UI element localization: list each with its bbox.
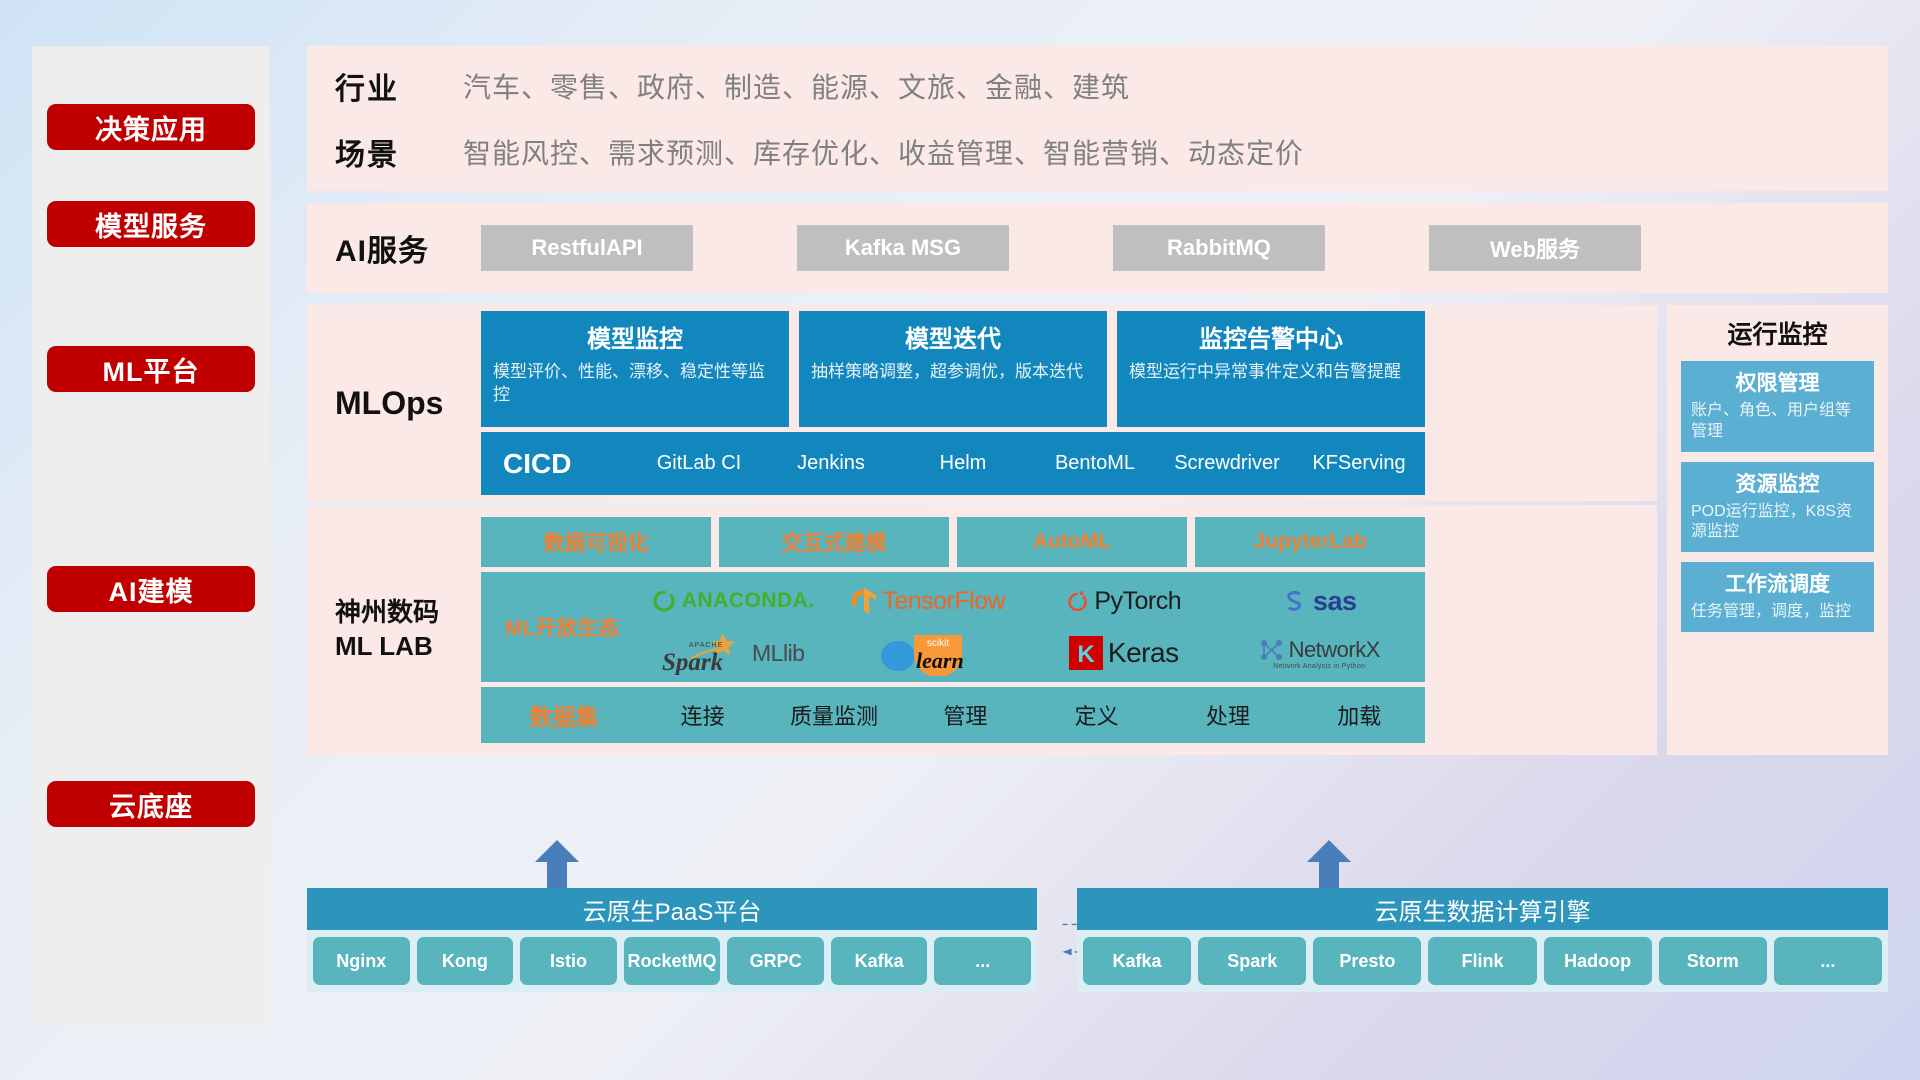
stage-pill-cloud-base[interactable]: 云底座	[47, 781, 255, 827]
mlops-card-title: 监控告警中心	[1129, 319, 1413, 354]
cloud-chip-rocketmq[interactable]: RocketMQ	[624, 937, 721, 985]
pytorch-logo: PyTorch	[1066, 587, 1181, 616]
tensorflow-logo: TensorFlow	[851, 587, 1005, 616]
cicd-item-screwdriver[interactable]: Screwdriver	[1161, 452, 1293, 475]
monitor-card-desc: 账户、角色、用户组等管理	[1691, 401, 1864, 443]
spark-icon: APACHE Spark	[661, 631, 747, 675]
networkx-icon	[1259, 637, 1285, 663]
data-chip-kafka[interactable]: Kafka	[1083, 937, 1191, 985]
mlops-label: MLOps	[335, 385, 463, 422]
up-arrow-icon-data-engine	[1307, 840, 1351, 892]
monitor-card-desc: POD运行监控，K8S资源监控	[1691, 502, 1864, 544]
up-arrow-icon-paas	[535, 840, 579, 892]
scenario-row: 场景 智能风控、需求预测、库存优化、收益管理、智能营销、动态定价	[335, 130, 1304, 174]
data-chip-spark[interactable]: Spark	[1198, 937, 1306, 985]
pytorch-icon	[1066, 588, 1089, 615]
mlops-card-desc: 模型运行中异常事件定义和告警提醒	[1129, 361, 1413, 384]
ai-service-chip-restfulapi[interactable]: RestfulAPI	[481, 225, 693, 271]
monitor-card-desc: 任务管理，调度，监控	[1691, 602, 1864, 623]
ml-lab-label-line2: ML LAB	[335, 630, 463, 664]
scikit-learn-logo: scikit learn	[876, 630, 980, 676]
dataset-bar: 数据集 连接 质量监测 管理 定义 处理 加载	[481, 687, 1425, 743]
sas-icon	[1282, 588, 1308, 614]
cloud-chip-kafka[interactable]: Kafka	[831, 937, 928, 985]
spark-mllib-logo: APACHE Spark MLlib	[661, 631, 804, 675]
scikit-learn-icon: scikit learn	[876, 630, 980, 676]
keras-logo: K Keras	[1069, 636, 1179, 670]
dataset-title: 数据集	[491, 698, 637, 732]
data-chip-flink[interactable]: Flink	[1428, 937, 1536, 985]
tensorflow-logo-text: TensorFlow	[882, 587, 1005, 616]
anaconda-icon	[651, 588, 677, 614]
mlops-card-alert-center[interactable]: 监控告警中心 模型运行中异常事件定义和告警提醒	[1117, 311, 1425, 427]
runtime-monitoring-panel: 运行监控 权限管理 账户、角色、用户组等管理 资源监控 POD运行监控，K8S资…	[1667, 305, 1888, 755]
mlops-card-title: 模型监控	[493, 319, 777, 354]
cicd-item-gitlab-ci[interactable]: GitLab CI	[633, 452, 765, 475]
cloud-native-data-engine-chip-list: Kafka Spark Presto Flink Hadoop Storm ..…	[1077, 930, 1888, 992]
ml-tool-tab-automl[interactable]: AutoML	[957, 517, 1187, 567]
cicd-item-kfserving[interactable]: KFServing	[1293, 452, 1425, 475]
sas-logo: sas	[1282, 586, 1357, 617]
sas-logo-text: sas	[1313, 586, 1357, 617]
ml-open-ecosystem-label: ML开放生态	[489, 612, 635, 642]
ml-lab-label: 神州数码 ML LAB	[335, 596, 463, 664]
cloud-chip-more[interactable]: ...	[934, 937, 1031, 985]
networkx-logo-text: NetworkX	[1289, 637, 1380, 663]
data-chip-storm[interactable]: Storm	[1659, 937, 1767, 985]
keras-logo-text: Keras	[1108, 637, 1179, 669]
cloud-chip-istio[interactable]: Istio	[520, 937, 617, 985]
dataset-item-load[interactable]: 加载	[1294, 699, 1425, 731]
cloud-native-data-engine-header: 云原生数据计算引擎	[1077, 888, 1888, 930]
monitor-card-workflow[interactable]: 工作流调度 任务管理，调度，监控	[1681, 562, 1874, 632]
scenario-label: 场景	[335, 130, 463, 174]
monitor-card-permission[interactable]: 权限管理 账户、角色、用户组等管理	[1681, 361, 1874, 452]
ai-service-label: AI服务	[335, 226, 463, 270]
dataset-item-manage[interactable]: 管理	[900, 699, 1031, 731]
svg-text:learn: learn	[916, 648, 964, 673]
cicd-title: CICD	[503, 448, 633, 480]
mlops-card-model-monitoring[interactable]: 模型监控 模型评价、性能、漂移、稳定性等监控	[481, 311, 789, 427]
cicd-bar: CICD GitLab CI Jenkins Helm BentoML Scre…	[481, 432, 1425, 495]
mlops-card-model-iteration[interactable]: 模型迭代 抽样策略调整，超参调优，版本迭代	[799, 311, 1107, 427]
mllib-logo-text: MLlib	[752, 640, 804, 667]
anaconda-logo: ANACONDA.	[651, 588, 815, 614]
data-chip-hadoop[interactable]: Hadoop	[1544, 937, 1652, 985]
ai-service-band: AI服务 RestfulAPI Kafka MSG RabbitMQ Web服务	[307, 203, 1888, 293]
data-chip-presto[interactable]: Presto	[1313, 937, 1421, 985]
svg-text:Spark: Spark	[662, 649, 724, 675]
monitor-card-title: 资源监控	[1691, 468, 1864, 498]
cloud-native-data-engine-group: 云原生数据计算引擎 Kafka Spark Presto Flink Hadoo…	[1077, 888, 1888, 992]
cloud-native-paas-chip-list: Nginx Kong Istio RocketMQ GRPC Kafka ...	[307, 930, 1037, 992]
ml-open-ecosystem-box: ML开放生态 ANACONDA.	[481, 572, 1425, 682]
industry-value: 汽车、零售、政府、制造、能源、文旅、金融、建筑	[463, 66, 1130, 106]
monitor-card-title: 权限管理	[1691, 367, 1864, 397]
svg-text:APACHE: APACHE	[689, 642, 723, 649]
stage-pill-ai-modeling[interactable]: AI建模	[47, 566, 255, 612]
ml-lab-label-line1: 神州数码	[335, 596, 463, 630]
monitor-card-title: 工作流调度	[1691, 568, 1864, 598]
stage-pill-decision[interactable]: 决策应用	[47, 104, 255, 150]
anaconda-logo-text: ANACONDA.	[682, 589, 815, 613]
ml-tool-tab-jupyterlab[interactable]: JupyterLab	[1195, 517, 1425, 567]
ml-tool-tab-list: 数据可视化 交互式建模 AutoML JupyterLab	[481, 517, 1425, 567]
ai-service-chip-kafka-msg[interactable]: Kafka MSG	[797, 225, 1009, 271]
stage-rail: 决策应用 模型服务 ML平台 AI建模 云底座	[32, 46, 270, 1026]
data-chip-more[interactable]: ...	[1774, 937, 1882, 985]
industry-scenario-band: 行业 汽车、零售、政府、制造、能源、文旅、金融、建筑 场景 智能风控、需求预测、…	[307, 46, 1888, 191]
industry-row: 行业 汽车、零售、政府、制造、能源、文旅、金融、建筑	[335, 64, 1304, 108]
tensorflow-icon	[851, 587, 877, 615]
stage-pill-ml-platform[interactable]: ML平台	[47, 346, 255, 392]
cloud-native-paas-group: 云原生PaaS平台 Nginx Kong Istio RocketMQ GRPC…	[307, 888, 1037, 992]
cloud-chip-kong[interactable]: Kong	[417, 937, 514, 985]
scenario-value: 智能风控、需求预测、库存优化、收益管理、智能营销、动态定价	[463, 132, 1304, 172]
keras-icon: K	[1069, 636, 1103, 670]
ai-service-chip-list: RestfulAPI Kafka MSG RabbitMQ Web服务	[481, 225, 1641, 271]
mlops-card-list: 模型监控 模型评价、性能、漂移、稳定性等监控 模型迭代 抽样策略调整，超参调优，…	[481, 311, 1425, 427]
cloud-native-paas-header: 云原生PaaS平台	[307, 888, 1037, 930]
architecture-diagram: 决策应用 模型服务 ML平台 AI建模 云底座 行业 汽车、零售、政府、制造、能…	[0, 0, 1920, 1080]
svg-text:K: K	[1077, 641, 1095, 668]
mlops-card-title: 模型迭代	[811, 319, 1095, 354]
cloud-foundation-area: 云原生PaaS平台 Nginx Kong Istio RocketMQ GRPC…	[307, 840, 1888, 1040]
pytorch-logo-text: PyTorch	[1094, 587, 1181, 616]
ai-service-chip-web-service[interactable]: Web服务	[1429, 225, 1641, 271]
ai-service-chip-rabbitmq[interactable]: RabbitMQ	[1113, 225, 1325, 271]
industry-label: 行业	[335, 64, 463, 108]
monitor-card-resource[interactable]: 资源监控 POD运行监控，K8S资源监控	[1681, 462, 1874, 553]
dataset-item-connect[interactable]: 连接	[637, 699, 768, 731]
cloud-chip-nginx[interactable]: Nginx	[313, 937, 410, 985]
ai-modeling-band: 神州数码 ML LAB 数据可视化 交互式建模 AutoML JupyterLa…	[307, 505, 1657, 755]
dataset-item-process[interactable]: 处理	[1162, 699, 1293, 731]
mlops-band: MLOps 模型监控 模型评价、性能、漂移、稳定性等监控 模型迭代 抽样策略调整…	[307, 305, 1657, 501]
ml-tool-tab-interactive-modeling[interactable]: 交互式建模	[719, 517, 949, 567]
runtime-monitoring-title: 运行监控	[1681, 315, 1874, 351]
dataset-item-define[interactable]: 定义	[1031, 699, 1162, 731]
cicd-item-jenkins[interactable]: Jenkins	[765, 452, 897, 475]
cicd-item-bentoml[interactable]: BentoML	[1029, 452, 1161, 475]
mlops-card-desc: 模型评价、性能、漂移、稳定性等监控	[493, 361, 777, 407]
mlops-card-desc: 抽样策略调整，超参调优，版本迭代	[811, 361, 1095, 384]
cicd-item-helm[interactable]: Helm	[897, 452, 1029, 475]
networkx-logo-subtitle: Network Analysis in Python	[1273, 663, 1365, 670]
dataset-item-quality-monitor[interactable]: 质量监测	[768, 699, 899, 731]
networkx-logo: NetworkX Network Analysis in Python	[1259, 637, 1380, 670]
cloud-chip-grpc[interactable]: GRPC	[727, 937, 824, 985]
ml-tool-tab-data-visualization[interactable]: 数据可视化	[481, 517, 711, 567]
stage-pill-model-service[interactable]: 模型服务	[47, 201, 255, 247]
